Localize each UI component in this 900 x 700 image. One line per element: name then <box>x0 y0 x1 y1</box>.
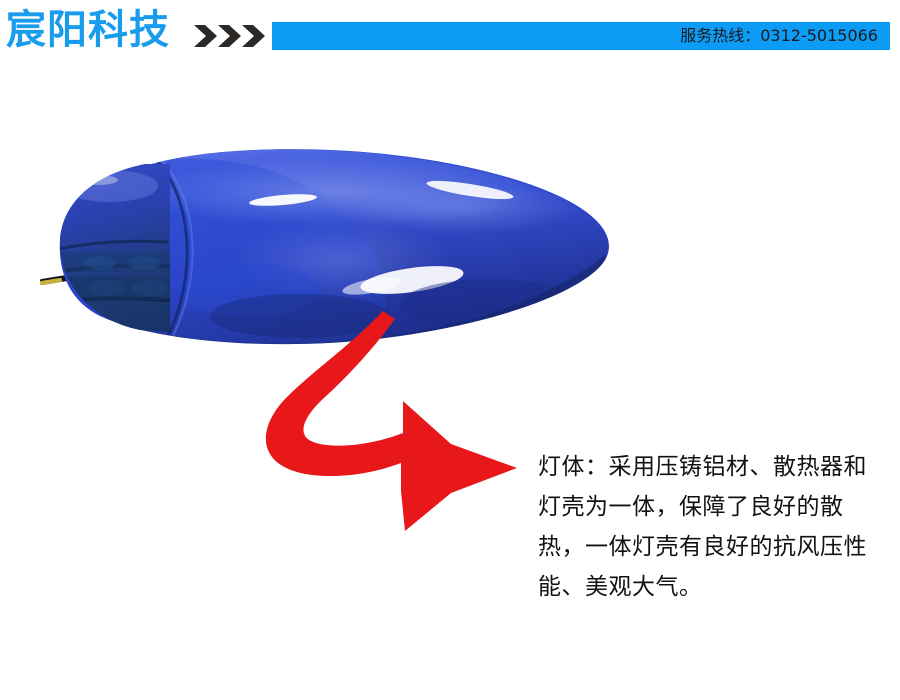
product-description-text: 灯体：采用压铸铝材、散热器和灯壳为一体，保障了良好的散热，一体灯壳有良好的抗风压… <box>538 447 870 607</box>
hotline-bar: 服务热线：0312-5015066 <box>272 22 890 50</box>
hotline-text: 服务热线：0312-5015066 <box>680 22 878 50</box>
company-logo-text: 宸阳科技 <box>6 8 170 52</box>
double-chevron-right-icon <box>193 24 269 48</box>
page-header: 宸阳科技 服务热线：0312-5015066 <box>0 0 900 72</box>
curved-red-arrow <box>255 305 530 540</box>
